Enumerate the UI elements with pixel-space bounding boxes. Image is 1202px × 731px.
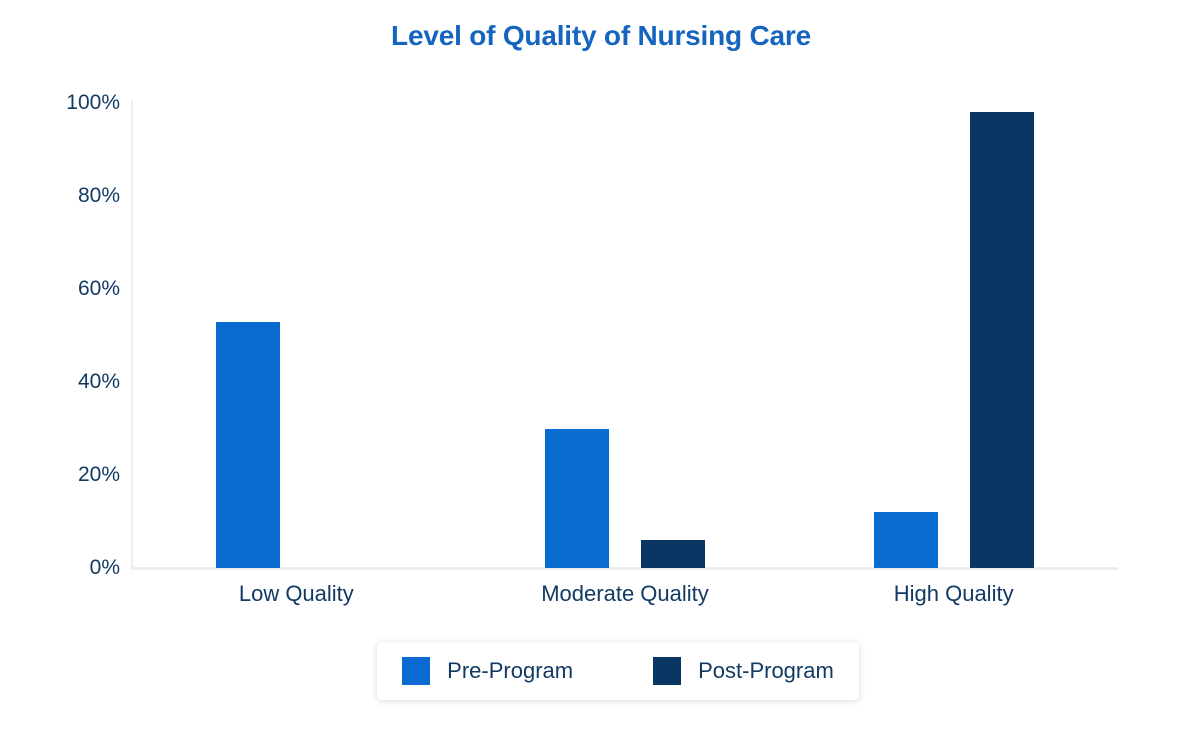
- bar-pre-program-high-quality[interactable]: [874, 512, 938, 568]
- bar-group-high-quality: [874, 103, 1034, 568]
- legend-swatch-icon: [402, 657, 430, 685]
- bar-group-moderate-quality: [545, 103, 705, 568]
- y-axis-tick-100: 100%: [12, 91, 120, 115]
- chart-legend: Pre-ProgramPost-Program: [377, 642, 859, 700]
- legend-label: Post-Program: [698, 658, 834, 684]
- plot-area: [132, 103, 1118, 568]
- bar-group-low-quality: [216, 103, 376, 568]
- y-axis-tick-80: 80%: [12, 184, 120, 208]
- y-axis-tick-40: 40%: [12, 370, 120, 394]
- legend-label: Pre-Program: [447, 658, 573, 684]
- y-axis-tick-60: 60%: [12, 277, 120, 301]
- bar-pre-program-moderate-quality[interactable]: [545, 429, 609, 569]
- bar-post-program-moderate-quality[interactable]: [641, 540, 705, 568]
- y-axis-tick-0: 0%: [12, 556, 120, 580]
- x-axis-label-high-quality: High Quality: [794, 581, 1114, 607]
- bar-pre-program-low-quality[interactable]: [216, 322, 280, 568]
- x-axis-label-moderate-quality: Moderate Quality: [465, 581, 785, 607]
- bar-post-program-high-quality[interactable]: [970, 112, 1034, 568]
- chart-container: Level of Quality of Nursing Care 0%20%40…: [0, 0, 1202, 731]
- legend-swatch-icon: [653, 657, 681, 685]
- x-axis-label-low-quality: Low Quality: [136, 581, 456, 607]
- y-axis-tick-labels: 0%20%40%60%80%100%: [0, 103, 120, 568]
- legend-item-pre-program[interactable]: Pre-Program: [402, 657, 573, 685]
- y-axis-tick-20: 20%: [12, 463, 120, 487]
- legend-item-post-program[interactable]: Post-Program: [653, 657, 834, 685]
- chart-title: Level of Quality of Nursing Care: [0, 20, 1202, 52]
